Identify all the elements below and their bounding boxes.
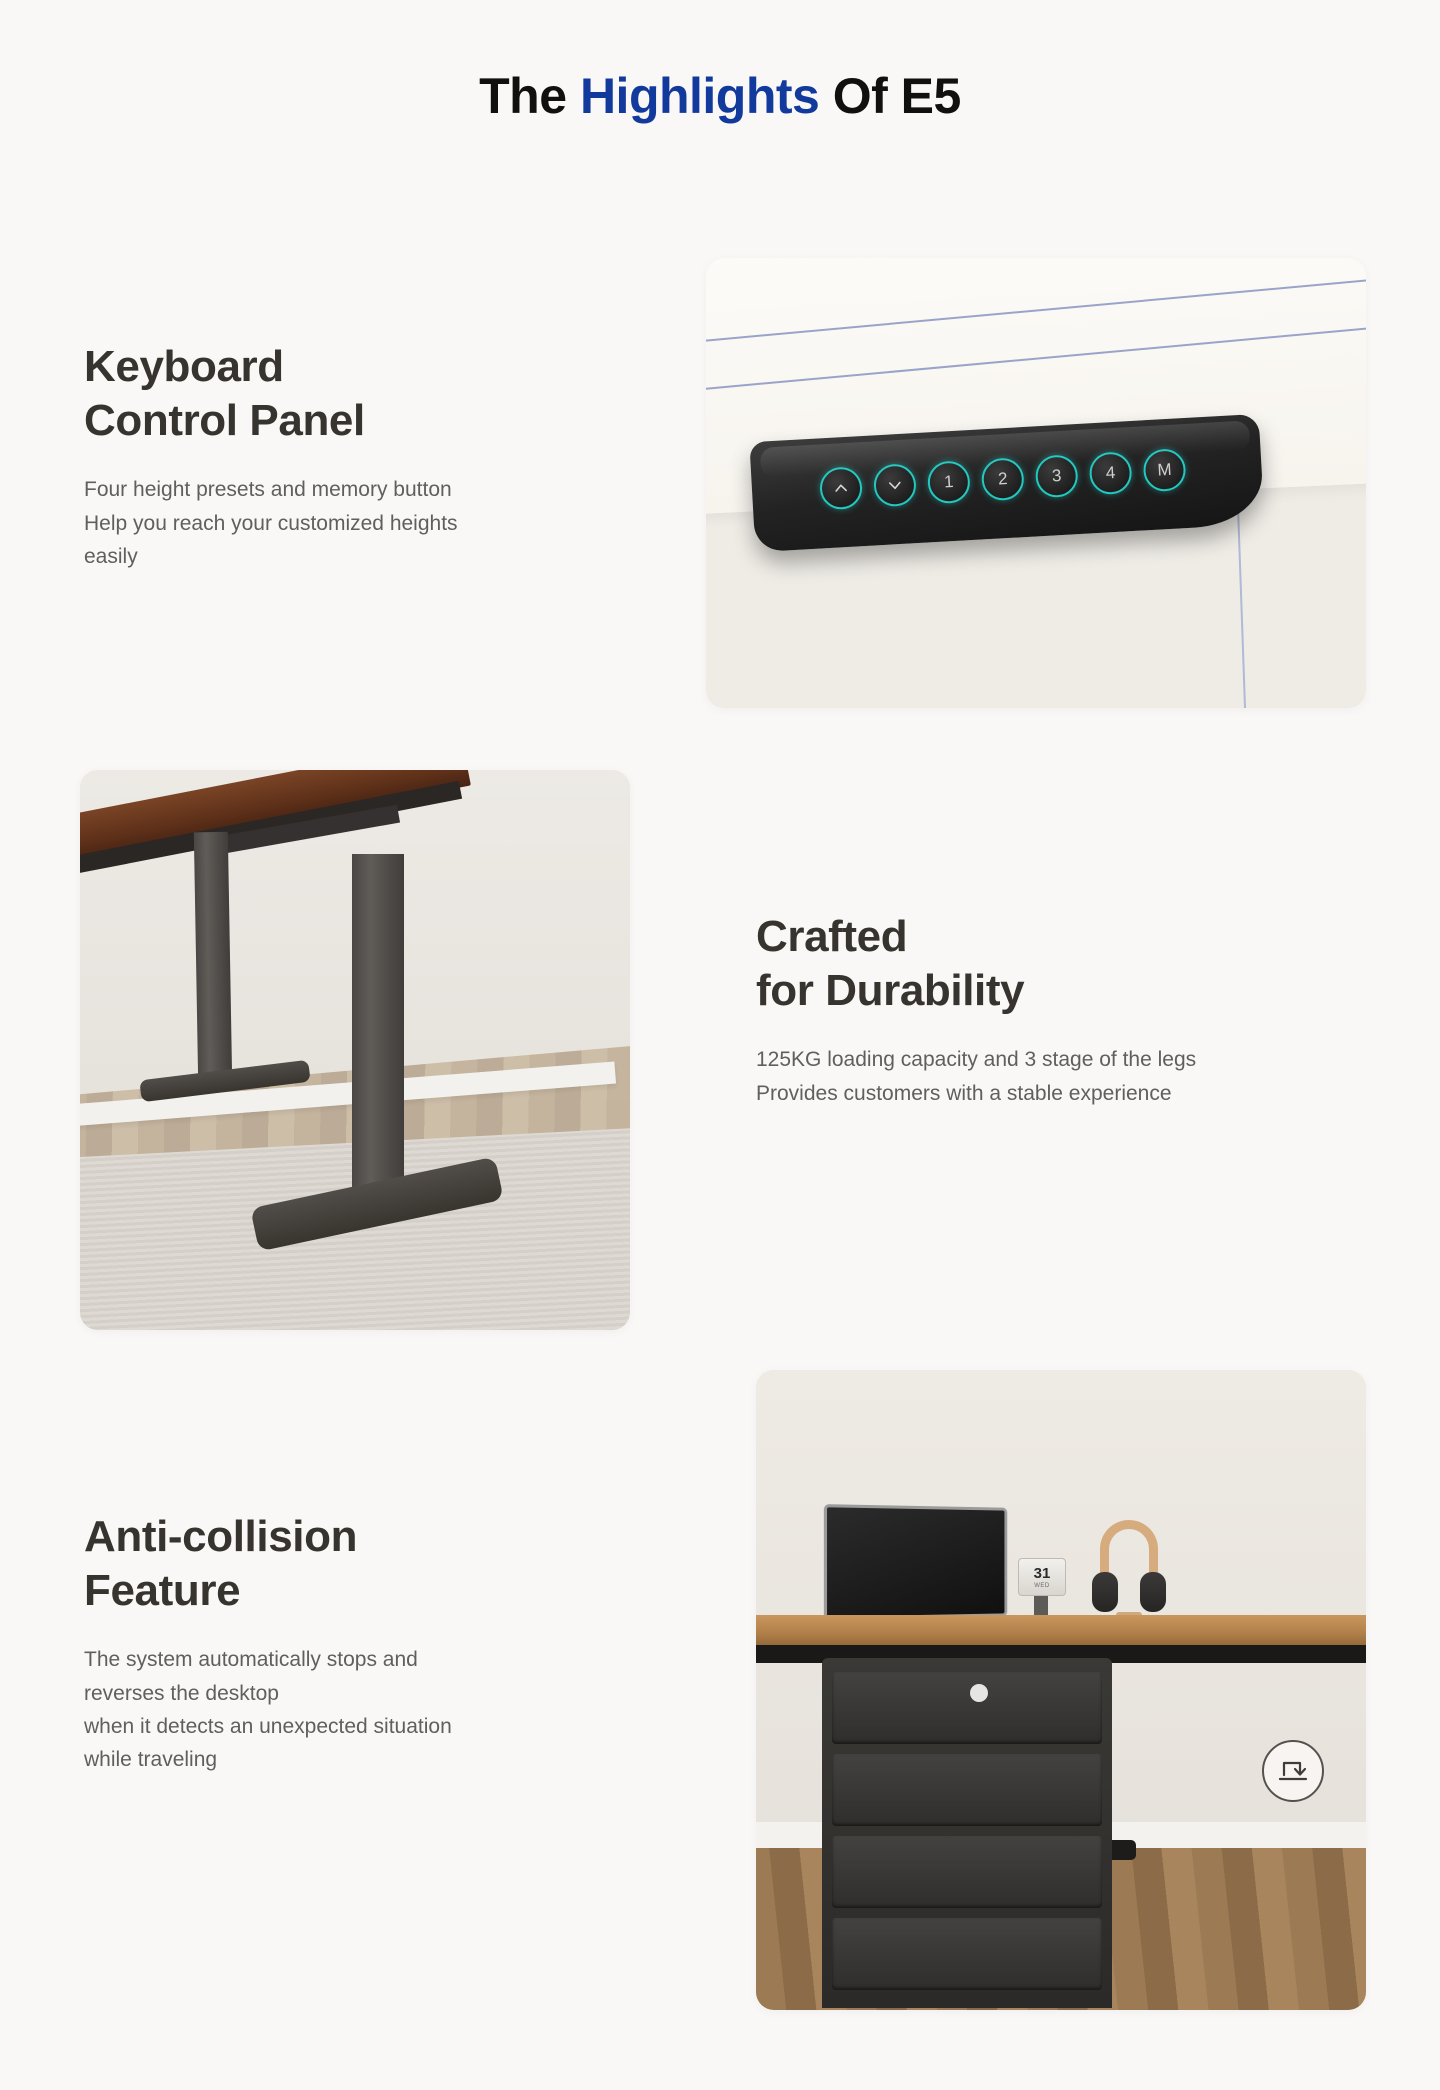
cabinet-lock-icon [970,1684,988,1702]
preset-1-label: 1 [944,472,955,492]
keyboard-control-panel-photo: 1 2 3 4 M [706,258,1366,708]
drawer-cabinet [822,1658,1112,2008]
desk-leg-front [352,854,404,1194]
desktop-edge-line [706,326,1366,393]
page-title-prefix: The [479,68,580,124]
preset-2-label: 2 [997,469,1008,489]
cabinet-drawer [832,1918,1102,1990]
down-arrow-key[interactable] [873,463,917,507]
memory-label: M [1157,460,1172,481]
section-3-heading: Anti-collision Feature [84,1510,664,1617]
section-crafted-for-durability-text: Crafted for Durability 125KG loading cap… [756,910,1336,1110]
highlights-page: The Highlights Of E5 Keyboard Control Pa… [0,0,1440,2090]
chevron-down-icon [887,477,904,494]
preset-4-label: 4 [1105,463,1116,483]
page-title: The Highlights Of E5 [0,68,1440,126]
desk-clock: 31 WED [1018,1558,1066,1596]
collision-reverse-icon [1276,1754,1310,1788]
clock-date-number: 31 [1034,1566,1051,1581]
anti-collision-desk-photo: 31 WED [756,1370,1366,2010]
cabinet-drawer [832,1754,1102,1826]
section-anti-collision-text: Anti-collision Feature The system automa… [84,1510,664,1776]
preset-3-key[interactable]: 3 [1035,454,1079,498]
preset-4-key[interactable]: 4 [1088,451,1132,495]
preset-1-key[interactable]: 1 [927,460,971,504]
clock-weekday: WED [1034,1583,1050,1589]
desk-leg-rear [194,832,232,1083]
cabinet-drawer [832,1672,1102,1744]
section-2-body: 125KG loading capacity and 3 stage of th… [756,1043,1336,1109]
memory-key[interactable]: M [1142,448,1186,492]
section-1-body: Four height presets and memory button He… [84,473,664,573]
preset-3-label: 3 [1051,466,1062,486]
up-arrow-key[interactable] [819,466,863,510]
section-keyboard-control-panel-text: Keyboard Control Panel Four height prese… [84,340,664,573]
anti-collision-badge [1262,1740,1324,1802]
keypad-key-row: 1 2 3 4 M [819,448,1187,510]
desktop-edge-line [706,278,1366,345]
section-3-body: The system automatically stops and rever… [84,1643,664,1776]
desk-top-surface [756,1615,1366,1649]
page-title-suffix: Of E5 [819,68,960,124]
headphones [1086,1520,1172,1620]
headphone-earcup-left [1092,1572,1118,1612]
headphone-earcup-right [1140,1572,1166,1612]
preset-2-key[interactable]: 2 [981,457,1025,501]
section-2-heading: Crafted for Durability [756,910,1336,1017]
page-title-accent: Highlights [580,68,819,124]
section-1-heading: Keyboard Control Panel [84,340,664,447]
desktop-edge-line [706,258,1366,261]
chevron-up-icon [833,480,850,497]
laptop-screen [824,1504,1007,1620]
desk-frame-legs-photo [80,770,630,1330]
cabinet-drawer [832,1836,1102,1908]
